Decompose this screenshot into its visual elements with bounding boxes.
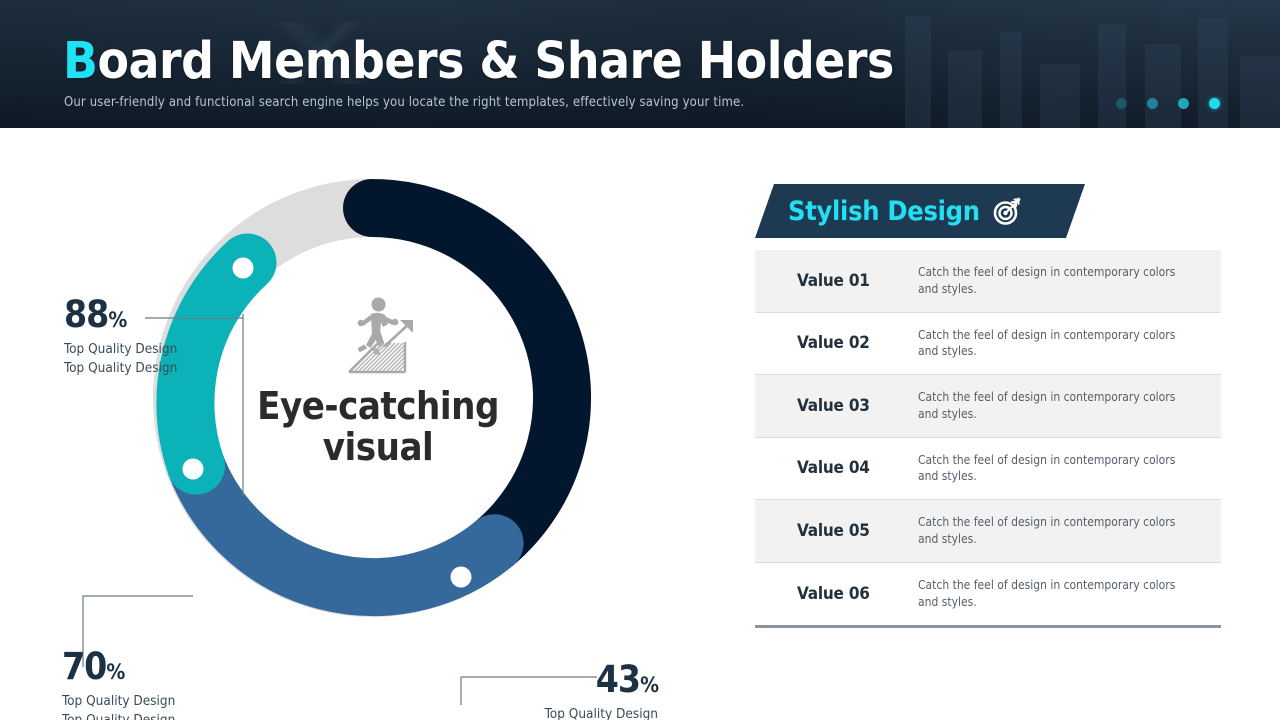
marker-dot-43[interactable] xyxy=(451,567,472,588)
callout-43-subtext: Top Quality Design Top Quality Design xyxy=(530,705,658,720)
callout-43: 43% Top Quality Design Top Quality Desig… xyxy=(530,661,658,720)
callout-70-subtext: Top Quality Design Top Quality Design xyxy=(62,692,175,720)
dot-indicator-3[interactable] xyxy=(1178,98,1189,109)
callout-43-value: 43% xyxy=(530,661,658,698)
row-label: Value 06 xyxy=(755,584,918,604)
page-title-accent-letter: B xyxy=(63,32,97,91)
row-label: Value 04 xyxy=(755,458,918,478)
table-bottom-rule xyxy=(755,625,1221,628)
row-description: Catch the feel of design in contemporary… xyxy=(918,389,1221,422)
callout-88-line1: Top Quality Design xyxy=(64,340,177,359)
callout-88-line2: Top Quality Design xyxy=(64,359,177,378)
row-label: Value 05 xyxy=(755,521,918,541)
progress-dots[interactable] xyxy=(1116,98,1220,109)
values-table: Value 01 Catch the feel of design in con… xyxy=(755,250,1221,625)
target-dart-icon xyxy=(992,196,1022,226)
dot-indicator-2[interactable] xyxy=(1147,98,1158,109)
donut-center-title: Eye-catching visual xyxy=(253,386,503,468)
row-description: Catch the feel of design in contemporary… xyxy=(918,577,1221,610)
table-row[interactable]: Value 03 Catch the feel of design in con… xyxy=(755,375,1221,438)
marker-dot-88[interactable] xyxy=(233,258,254,279)
table-row[interactable]: Value 01 Catch the feel of design in con… xyxy=(755,250,1221,313)
donut-chart-region: Eye-catching visual 88% Top Quality Desi… xyxy=(0,128,700,720)
page-title-rest: oard Members & Share Holders xyxy=(97,32,893,91)
person-running-up-growth-chart-icon xyxy=(335,296,421,376)
callout-70-value: 70% xyxy=(62,648,175,685)
dot-indicator-4[interactable] xyxy=(1209,98,1220,109)
callout-88: 88% Top Quality Design Top Quality Desig… xyxy=(64,296,177,378)
marker-dot-70[interactable] xyxy=(183,459,204,480)
row-description: Catch the feel of design in contemporary… xyxy=(918,264,1221,297)
table-row[interactable]: Value 02 Catch the feel of design in con… xyxy=(755,313,1221,376)
slide-header: Board Members & Share Holders Our user-f… xyxy=(0,0,1280,128)
callout-70-line2: Top Quality Design xyxy=(62,711,175,720)
donut-center-content: Eye-catching visual xyxy=(253,296,503,468)
row-label: Value 02 xyxy=(755,333,918,353)
row-description: Catch the feel of design in contemporary… xyxy=(918,452,1221,485)
table-row[interactable]: Value 06 Catch the feel of design in con… xyxy=(755,563,1221,626)
donut-segment-70[interactable] xyxy=(196,466,495,587)
page-subtitle: Our user-friendly and functional search … xyxy=(64,95,744,110)
donut-center-title-line1: Eye-catching xyxy=(253,386,503,427)
row-description: Catch the feel of design in contemporary… xyxy=(918,327,1221,360)
panel-banner-label: Stylish Design xyxy=(788,196,980,227)
callout-43-line1: Top Quality Design xyxy=(530,705,658,720)
table-row[interactable]: Value 04 Catch the feel of design in con… xyxy=(755,438,1221,501)
callout-88-value: 88% xyxy=(64,296,177,333)
table-row[interactable]: Value 05 Catch the feel of design in con… xyxy=(755,500,1221,563)
callout-70: 70% Top Quality Design Top Quality Desig… xyxy=(62,648,175,720)
page-title: Board Members & Share Holders xyxy=(63,32,894,91)
stylish-design-panel: Stylish Design Value 01 Catch the feel o… xyxy=(754,128,1254,720)
callout-88-subtext: Top Quality Design Top Quality Design xyxy=(64,340,177,378)
row-label: Value 03 xyxy=(755,396,918,416)
row-description: Catch the feel of design in contemporary… xyxy=(918,514,1221,547)
panel-banner: Stylish Design xyxy=(755,184,1085,238)
dot-indicator-1[interactable] xyxy=(1116,98,1127,109)
donut-segment-88[interactable] xyxy=(185,263,247,466)
donut-center-title-line2: visual xyxy=(253,427,503,468)
callout-70-line1: Top Quality Design xyxy=(62,692,175,711)
row-label: Value 01 xyxy=(755,271,918,291)
